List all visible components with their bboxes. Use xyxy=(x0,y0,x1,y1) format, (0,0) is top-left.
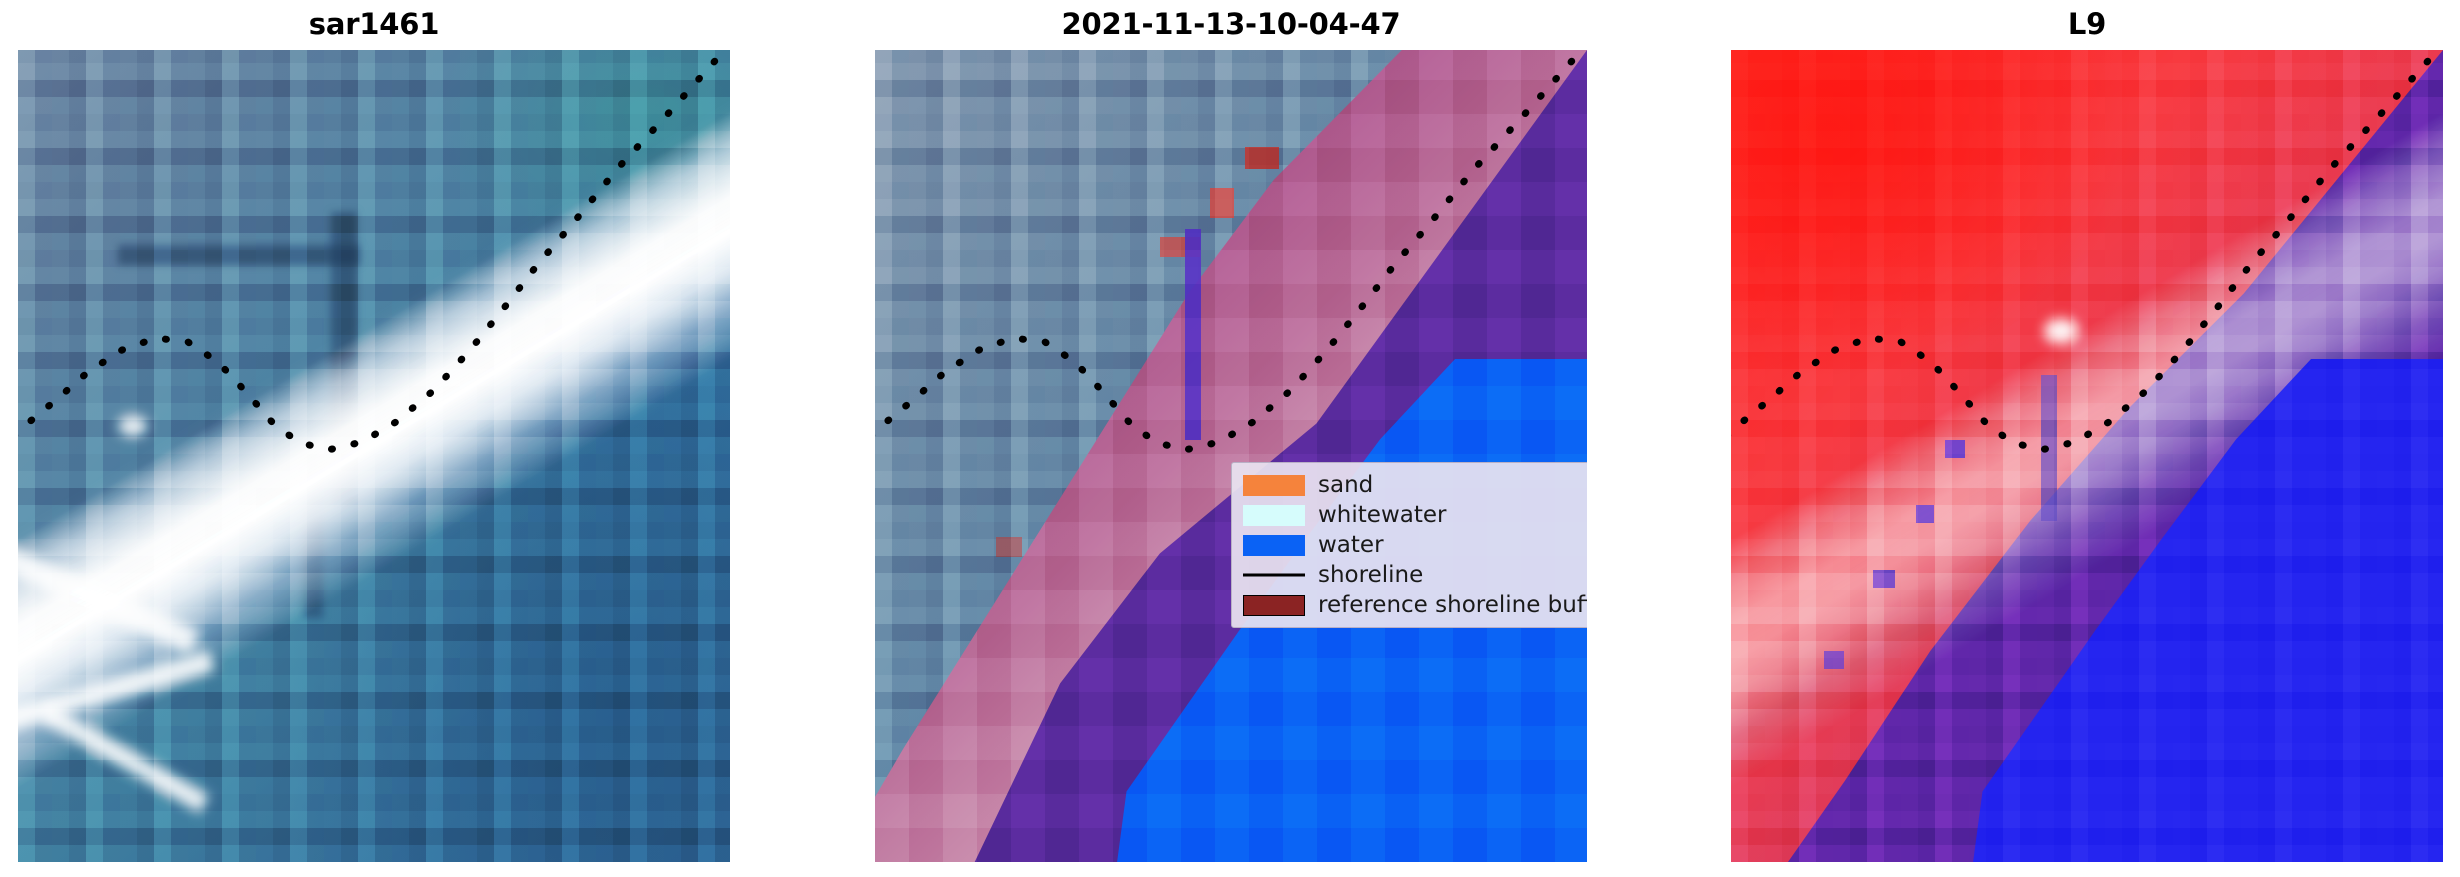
l9-pixel-texture-coarse xyxy=(1731,50,2443,862)
legend-label-sand: sand xyxy=(1318,472,1373,498)
legend-item-whitewater: whitewater xyxy=(1243,502,1576,528)
panel-classification-overlay[interactable]: sand whitewater water shoreline referenc… xyxy=(875,50,1587,862)
legend-item-shoreline: shoreline xyxy=(1243,562,1576,588)
sar-pixel-texture-coarse xyxy=(18,50,730,862)
legend-swatch-whitewater xyxy=(1243,505,1305,526)
legend-item-sand: sand xyxy=(1243,472,1576,498)
legend-box[interactable]: sand whitewater water shoreline referenc… xyxy=(1231,462,1587,628)
legend-label-shoreline: shoreline xyxy=(1318,562,1423,588)
panel-title-sar: sar1461 xyxy=(18,4,730,44)
class-pixel-texture-coarse xyxy=(875,50,1587,862)
panel-title-l9: L9 xyxy=(1731,4,2443,44)
legend-item-reference-buffer: reference shoreline buffer xyxy=(1243,592,1576,618)
legend-swatch-water xyxy=(1243,535,1305,556)
legend-swatch-reference-buffer xyxy=(1243,595,1305,616)
panel-sar-image[interactable] xyxy=(18,50,730,862)
legend-item-water: water xyxy=(1243,532,1576,558)
legend-swatch-sand xyxy=(1243,475,1305,496)
panel-l9-image[interactable] xyxy=(1731,50,2443,862)
panel-title-timestamp: 2021-11-13-10-04-47 xyxy=(875,4,1587,44)
figure-root: sar1461 2021-11-13-10-04-47 L9 xyxy=(0,0,2460,877)
legend-label-water: water xyxy=(1318,532,1384,558)
legend-label-reference-buffer: reference shoreline buffer xyxy=(1318,592,1587,618)
legend-swatch-shoreline xyxy=(1243,565,1305,586)
legend-label-whitewater: whitewater xyxy=(1318,502,1446,528)
